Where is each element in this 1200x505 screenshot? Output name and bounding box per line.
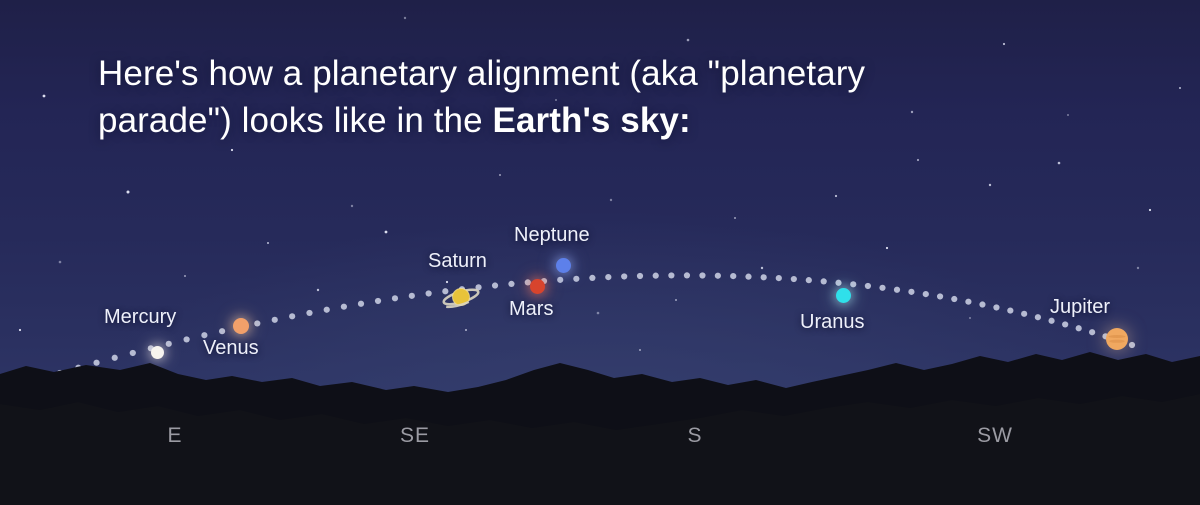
ecliptic-dot bbox=[937, 293, 943, 299]
planet-label-jupiter: Jupiter bbox=[1050, 296, 1110, 319]
ecliptic-dot bbox=[589, 275, 595, 281]
ecliptic-dot bbox=[699, 272, 705, 278]
ecliptic-dot bbox=[668, 272, 674, 278]
planet-mars bbox=[530, 279, 545, 294]
ecliptic-dot bbox=[865, 283, 871, 289]
ecliptic-dot bbox=[492, 282, 498, 288]
ecliptic-dot bbox=[426, 290, 432, 296]
ecliptic-dot bbox=[951, 296, 957, 302]
compass-label-se: SE bbox=[400, 424, 430, 448]
ecliptic-dot bbox=[289, 313, 295, 319]
planet-neptune bbox=[556, 258, 571, 273]
title-line-2-prefix: parade") looks like in the bbox=[98, 101, 493, 140]
ecliptic-dot bbox=[272, 317, 278, 323]
ecliptic-dot bbox=[908, 289, 914, 295]
compass-label-e: E bbox=[167, 424, 182, 448]
ecliptic-dot bbox=[745, 274, 751, 280]
ecliptic-dot bbox=[791, 276, 797, 282]
planet-uranus bbox=[836, 288, 851, 303]
ecliptic-dot bbox=[392, 295, 398, 301]
ecliptic-dot bbox=[835, 280, 841, 286]
ecliptic-dot bbox=[965, 299, 971, 305]
ecliptic-dot bbox=[573, 276, 579, 282]
ecliptic-dot bbox=[358, 301, 364, 307]
planet-saturn bbox=[441, 283, 481, 316]
ecliptic-dot bbox=[979, 301, 985, 307]
ecliptic-dot bbox=[375, 298, 381, 304]
ecliptic-dot bbox=[306, 310, 312, 316]
ecliptic-dot bbox=[341, 304, 347, 310]
ecliptic-dot bbox=[409, 293, 415, 299]
ecliptic-dot bbox=[715, 273, 721, 279]
ecliptic-dot bbox=[254, 320, 260, 326]
ecliptic-dot bbox=[637, 273, 643, 279]
ecliptic-dot bbox=[730, 273, 736, 279]
ecliptic-dot bbox=[806, 277, 812, 283]
ecliptic-dot bbox=[324, 307, 330, 313]
ecliptic-dot bbox=[821, 278, 827, 284]
ecliptic-dot bbox=[621, 273, 627, 279]
ecliptic-dot bbox=[776, 275, 782, 281]
ecliptic-dot bbox=[761, 274, 767, 280]
planet-label-neptune: Neptune bbox=[514, 224, 590, 247]
planetary-alignment-illustration: Here's how a planetary alignment (aka "p… bbox=[0, 0, 1200, 505]
ecliptic-dot bbox=[894, 287, 900, 293]
compass-label-s: S bbox=[687, 424, 702, 448]
ecliptic-dot bbox=[879, 285, 885, 291]
planet-label-mars: Mars bbox=[509, 298, 553, 321]
ecliptic-dot bbox=[1021, 311, 1027, 317]
ecliptic-dot bbox=[557, 277, 563, 283]
ecliptic-dot bbox=[1007, 307, 1013, 313]
ecliptic-dot bbox=[653, 273, 659, 279]
page-title: Here's how a planetary alignment (aka "p… bbox=[98, 50, 1058, 144]
ecliptic-dot bbox=[923, 291, 929, 297]
horizon-silhouette bbox=[0, 330, 1200, 505]
title-line-2-emphasis: Earth's sky: bbox=[493, 101, 691, 140]
title-line-1: Here's how a planetary alignment (aka "p… bbox=[98, 54, 865, 93]
ecliptic-dot bbox=[684, 272, 690, 278]
ecliptic-dot bbox=[1062, 321, 1068, 327]
planet-label-mercury: Mercury bbox=[104, 306, 176, 329]
planet-label-saturn: Saturn bbox=[428, 250, 487, 273]
ecliptic-dot bbox=[605, 274, 611, 280]
compass-label-sw: SW bbox=[977, 424, 1013, 448]
ecliptic-dot bbox=[508, 281, 514, 287]
ecliptic-dot bbox=[850, 281, 856, 287]
ecliptic-dot bbox=[1035, 314, 1041, 320]
ecliptic-dot bbox=[993, 304, 999, 310]
